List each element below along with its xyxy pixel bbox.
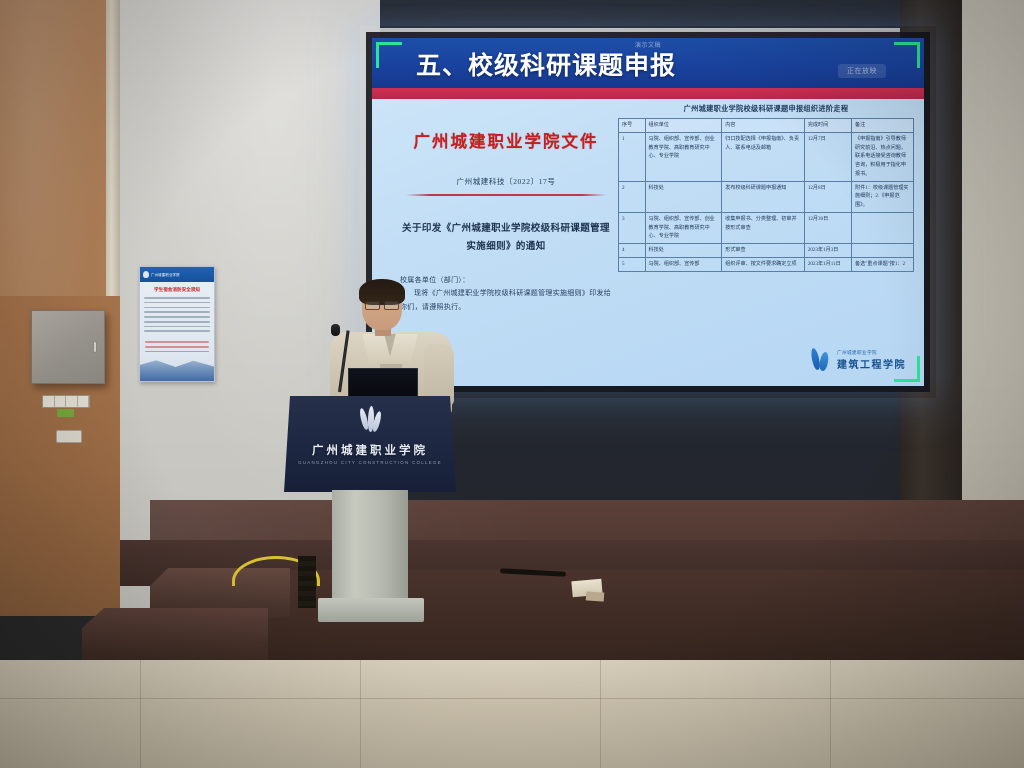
laptop-screen[interactable] [348, 368, 418, 398]
cell-no: 1 [619, 132, 646, 181]
tile-grout-line [600, 660, 601, 768]
table-row: 5 马院、组织部、宣传部 组织评审、按文件要求确定立项 2023年1月11日 备… [619, 257, 914, 271]
electrical-panel-box[interactable] [31, 310, 105, 384]
cell-no: 3 [619, 212, 646, 243]
poster-line [144, 321, 210, 323]
projection-screen[interactable]: 演示文稿 五、校级科研课题申报 正在放映 广州城建职业学院文件 广州城建科技〔2… [372, 38, 924, 386]
podium-flame-emblem-icon [355, 406, 385, 436]
cell-date: 12月30日 [804, 212, 851, 243]
poster-line [144, 307, 210, 309]
cell-org: 科技处 [645, 244, 722, 258]
cell-org: 马院、组织部、宣传部、创业教育学院、高职教育研究中心、专业学院 [645, 132, 722, 181]
podium-name-en: GUANGZHOU CITY CONSTRUCTION COLLEGE [284, 460, 456, 465]
cable-guard-strip [298, 556, 316, 608]
cell-content: 收集申报书、分类整理、初审并按形式审查 [722, 212, 805, 243]
poster-line [144, 302, 210, 304]
panel-latch-icon[interactable] [93, 341, 97, 353]
podium-base [318, 598, 424, 622]
table-col-org: 组织单位 [645, 119, 722, 133]
cell-date: 12月8日 [804, 181, 851, 212]
cell-org: 科技处 [645, 181, 722, 212]
table-col-remark: 备注 [852, 119, 914, 133]
table-row: 3 马院、组织部、宣传部、创业教育学院、高职教育研究中心、专业学院 收集申报书、… [619, 212, 914, 243]
poster-warning-lines [140, 335, 214, 352]
poster-line [144, 326, 210, 328]
cell-date: 2023年1月3日 [804, 244, 851, 258]
podium-column [332, 490, 408, 610]
slide-red-divider [372, 88, 924, 99]
tile-floor [0, 660, 1024, 768]
cell-no: 2 [619, 181, 646, 212]
table-row: 1 马院、组织部、宣传部、创业教育学院、高职教育研究中心、专业学院 归口技配选择… [619, 132, 914, 181]
podium: 广州城建职业学院 GUANGZHOU CITY CONSTRUCTION COL… [284, 396, 456, 492]
cell-remark [852, 212, 914, 243]
cell-date: 12月7日 [804, 132, 851, 181]
glasses-icon [365, 301, 399, 308]
flow-table-block: 广州城建职业学院校级科研课题申报组织进阶走程 序号 组织单位 内容 完成时间 备… [618, 104, 914, 272]
corner-bracket-top-left-icon [376, 42, 402, 68]
cell-date: 2023年1月11日 [804, 257, 851, 271]
jacket-collar-left [362, 334, 391, 364]
document-subject: 关于印发《广州城建职业学院校级科研课题管理实施细则》的通知 [386, 220, 626, 256]
table-row: 4 科技处 形式审查 2023年1月3日 [619, 244, 914, 258]
poster-line [144, 316, 210, 318]
cell-org: 马院、组织部、宣传部、创业教育学院、高职教育研究中心、专业学院 [645, 212, 722, 243]
table-col-date: 完成时间 [804, 119, 851, 133]
presentation-room-photo: 演示文稿 五、校级科研课题申报 正在放映 广州城建职业学院文件 广州城建科技〔2… [0, 0, 1024, 768]
table-col-content: 内容 [722, 119, 805, 133]
poster-line [144, 297, 210, 299]
poster-wave-graphic [140, 355, 214, 381]
panel-label-plate [42, 395, 90, 408]
cell-no: 4 [619, 244, 646, 258]
poster-org: 广州城建职业学院 [151, 272, 180, 277]
panel-label-cell [43, 396, 55, 407]
document-number: 广州城建科技〔2022〕17号 [386, 176, 626, 187]
document-red-rule [406, 194, 606, 196]
logo-org-large: 建筑工程学院 [837, 356, 906, 371]
table-col-no: 序号 [619, 119, 646, 133]
poster-line [144, 311, 210, 313]
presentation-slide[interactable]: 演示文稿 五、校级科研课题申报 正在放映 广州城建职业学院文件 广州城建科技〔2… [372, 38, 924, 386]
tile-grout-line [140, 660, 141, 768]
podium-name-cn: 广州城建职业学院 [284, 442, 456, 458]
jacket-collar-right [388, 334, 417, 364]
cell-remark: 附件1：校级课题管理实施细则；2.《申报范围》。 [852, 181, 914, 212]
panel-green-sticker [57, 409, 74, 417]
cell-content: 发布校级科研课题申报通知 [722, 181, 805, 212]
cell-remark: 《申报指南》引导教师研究前沿、热点问题，联系电话接受咨询教师咨询，积极用于指化申… [852, 132, 914, 181]
slide-watermark: 正在放映 [838, 64, 886, 78]
tile-grout-line [0, 698, 1024, 699]
cell-content: 形式审查 [722, 244, 805, 258]
tile-grout-line [360, 660, 361, 768]
poster-line [144, 330, 210, 332]
wall-socket[interactable] [56, 430, 82, 443]
poster-header: 广州城建职业学院 [140, 267, 214, 282]
tile-grout-line [830, 660, 831, 768]
flow-table-caption: 广州城建职业学院校级科研课题申报组织进阶走程 [618, 104, 914, 114]
cell-remark: 备选"重点课题"按1：2 [852, 257, 914, 271]
poster-flame-icon [143, 271, 149, 278]
floor-small-object [586, 591, 605, 601]
slide-college-logo: 广州城建职业学院 建筑工程学院 [809, 348, 906, 372]
table-row: 2 科技处 发布校级科研课题申报通知 12月8日 附件1：校级课题管理实施细则；… [619, 181, 914, 212]
cell-remark [852, 244, 914, 258]
panel-label-cell [66, 396, 78, 407]
cell-org: 马院、组织部、宣传部 [645, 257, 722, 271]
poster-line [145, 346, 209, 348]
flame-logo-icon [809, 348, 831, 372]
flow-table: 序号 组织单位 内容 完成时间 备注 1 马院、组织部、宣传部、创业教育学院、高… [618, 118, 914, 272]
panel-label-cell [78, 396, 90, 407]
microphone-head-icon [331, 324, 340, 336]
table-header-row: 序号 组织单位 内容 完成时间 备注 [619, 119, 914, 133]
cell-no: 5 [619, 257, 646, 271]
cell-content: 归口技配选择《申报指南》、负责人、联系电话及邮箱 [722, 132, 805, 181]
slide-title: 五、校级科研课题申报 [416, 46, 676, 82]
document-title: 广州城建职业学院文件 [386, 128, 626, 152]
poster-line [145, 341, 209, 343]
poster-body-lines [140, 293, 214, 332]
cell-content: 组织评审、按文件要求确定立项 [722, 257, 805, 271]
corner-bracket-top-right-icon [894, 42, 920, 68]
wall-safety-poster: 广州城建职业学院 学生宿舍消防安全须知 [139, 266, 215, 382]
panel-label-cell [55, 396, 67, 407]
poster-line [145, 351, 209, 353]
